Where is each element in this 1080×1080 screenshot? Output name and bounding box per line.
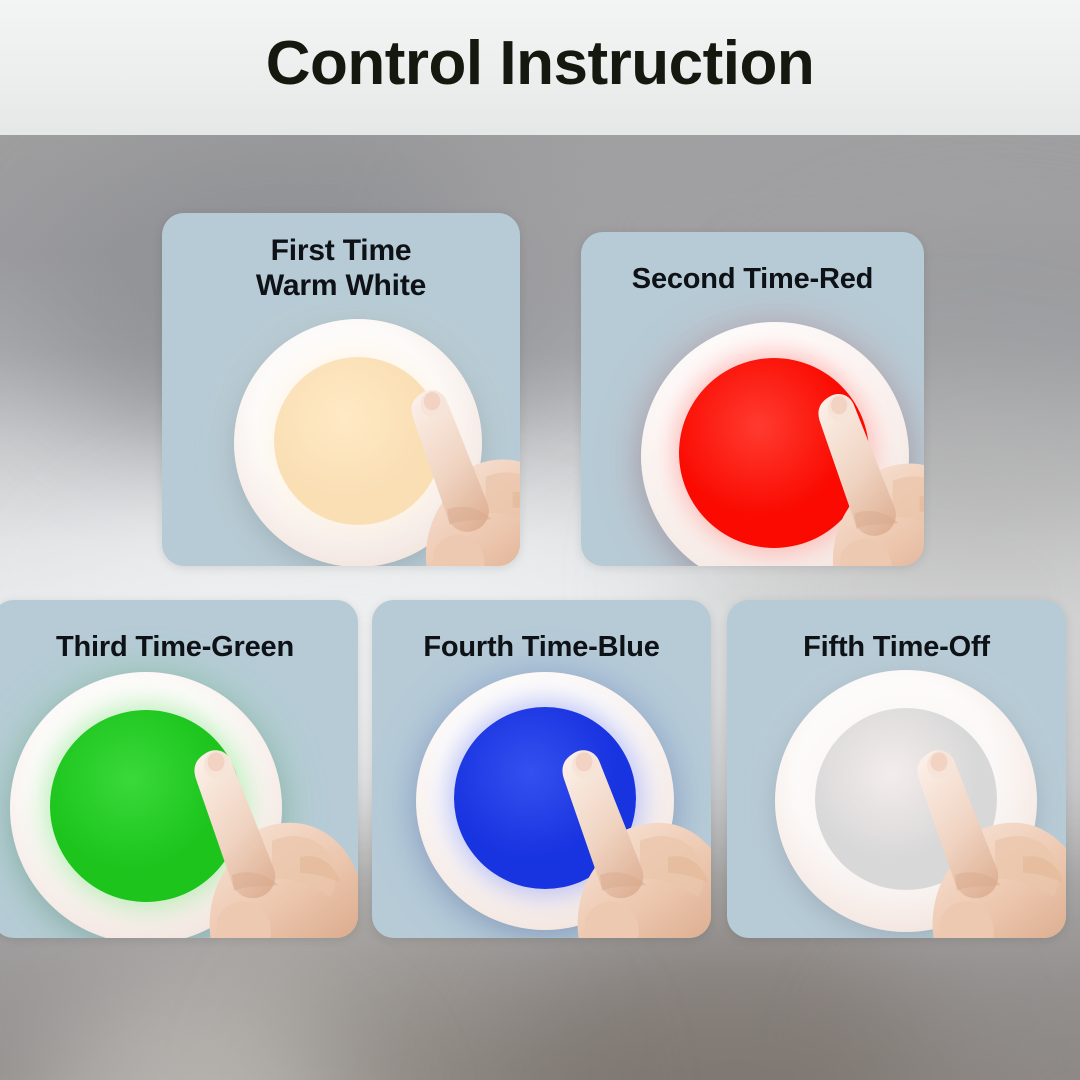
header-band: Control Instruction xyxy=(0,0,1080,135)
light-lens xyxy=(50,710,242,902)
light-lens xyxy=(679,358,869,548)
instruction-card-first-time[interactable]: First Time Warm White xyxy=(162,213,520,566)
card-title: Second Time-Red xyxy=(581,262,924,296)
round-ceiling-light-icon xyxy=(10,672,282,938)
page-title: Control Instruction xyxy=(0,0,1080,135)
card-title: Fifth Time-Off xyxy=(727,630,1066,664)
instruction-card-third-time[interactable]: Third Time-Green xyxy=(0,600,358,938)
light-lens xyxy=(815,708,997,890)
instruction-card-fourth-time[interactable]: Fourth Time-Blue xyxy=(372,600,711,938)
round-ceiling-light-icon xyxy=(416,672,674,930)
control-instruction-page: Control Instruction First Time Warm Whit… xyxy=(0,0,1080,1080)
light-lens xyxy=(454,707,636,889)
card-title: Fourth Time-Blue xyxy=(372,630,711,664)
light-lens xyxy=(274,357,442,525)
card-title: Third Time-Green xyxy=(0,630,358,664)
round-ceiling-light-icon xyxy=(641,322,909,566)
instruction-card-second-time[interactable]: Second Time-Red xyxy=(581,232,924,566)
card-title: First Time Warm White xyxy=(162,233,520,304)
round-ceiling-light-icon xyxy=(775,670,1037,932)
round-ceiling-light-icon xyxy=(234,319,482,566)
instruction-card-fifth-time[interactable]: Fifth Time-Off xyxy=(727,600,1066,938)
